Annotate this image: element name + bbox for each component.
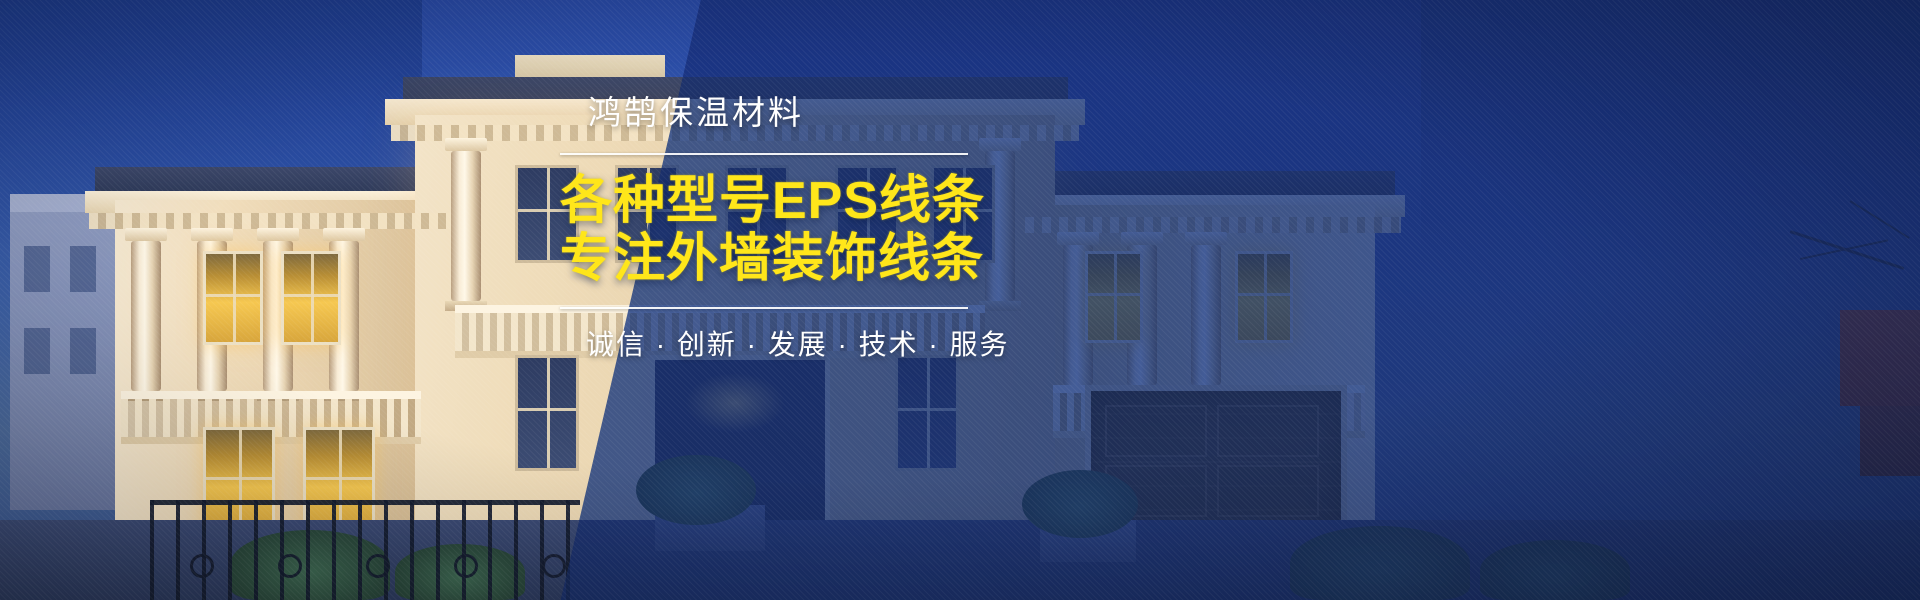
headline-line-2: 专注外墙装饰线条 xyxy=(560,231,1000,287)
iron-fence xyxy=(150,500,580,600)
distant-window xyxy=(24,328,50,374)
divider-top xyxy=(560,153,968,155)
headline-line-1: 各种型号EPS线条 xyxy=(560,173,1000,229)
banner-copy-block: 鸿鹄保温材料 各种型号EPS线条 专注外墙装饰线条 诚信 · 创新 · 发展 ·… xyxy=(560,96,1000,359)
column xyxy=(131,241,161,391)
lit-window xyxy=(281,251,341,345)
column xyxy=(451,151,481,301)
lit-window xyxy=(203,251,263,345)
dentil-band-left xyxy=(89,213,451,229)
promo-banner: 鸿鹄保温材料 各种型号EPS线条 专注外墙装饰线条 诚信 · 创新 · 发展 ·… xyxy=(0,0,1920,600)
window xyxy=(515,355,579,471)
tagline: 诚信 · 创新 · 发展 · 技术 · 服务 xyxy=(586,331,1000,359)
brand-name: 鸿鹄保温材料 xyxy=(588,96,1000,129)
divider-bottom xyxy=(560,307,968,309)
distant-window xyxy=(24,246,50,292)
left-wing-roof xyxy=(95,167,445,193)
